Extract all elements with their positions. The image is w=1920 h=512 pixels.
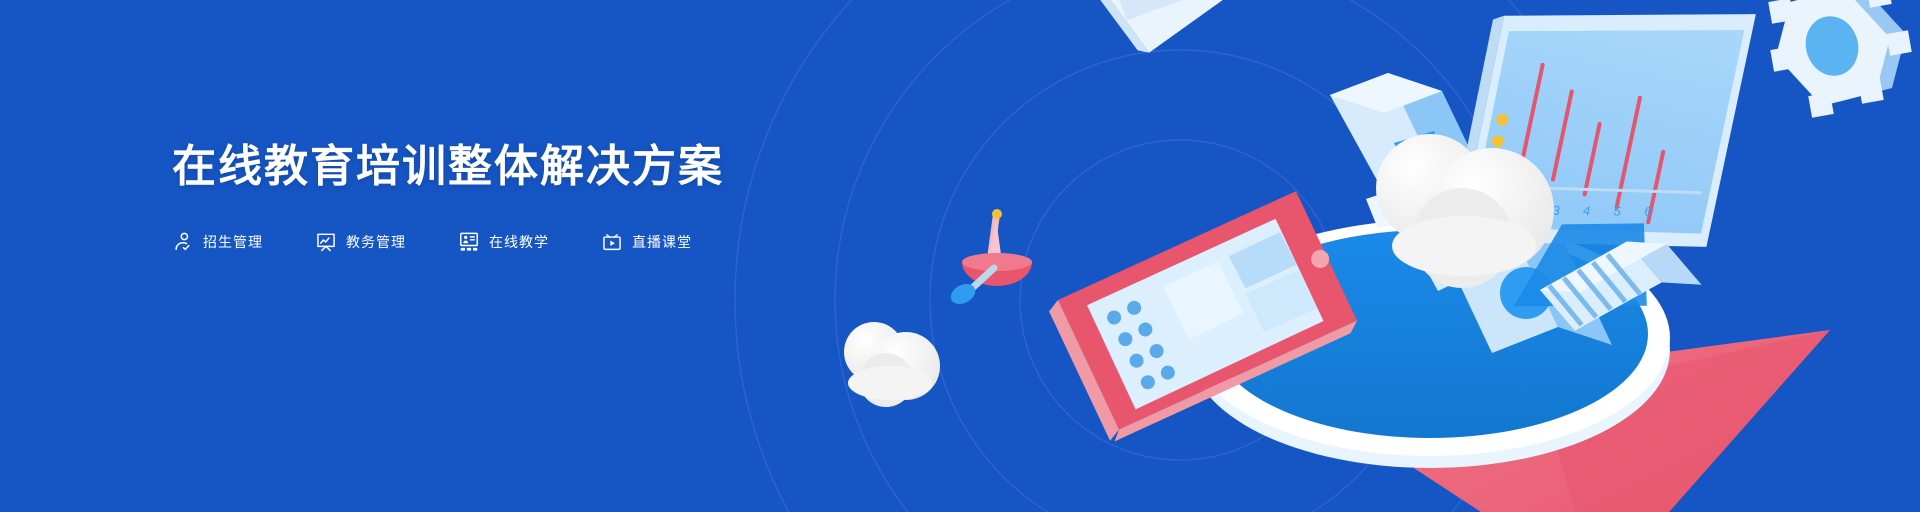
illustration-artwork: 1 2 3 4 5 6: [0, 0, 1920, 512]
feature-item-enrollment[interactable]: 招生管理: [172, 231, 263, 253]
spinning-top-pin: [947, 209, 1032, 308]
cloud-small: [844, 322, 940, 407]
feature-label: 直播课堂: [632, 235, 692, 249]
feature-item-academic-affairs[interactable]: 教务管理: [315, 231, 406, 253]
open-book: [1061, 0, 1390, 66]
live-tv-play-icon: [601, 231, 623, 253]
feature-label: 教务管理: [346, 235, 406, 249]
feature-list: 招生管理 教务管理: [172, 231, 892, 253]
presentation-class-icon: [458, 231, 480, 253]
gear-icon: [1768, 0, 1911, 118]
feature-item-live-classroom[interactable]: 直播课堂: [601, 231, 692, 253]
hero-banner: 1 2 3 4 5 6: [0, 0, 1920, 512]
banner-copy: 在线教育培训整体解决方案 招生管理: [172, 142, 892, 253]
chart-board-icon: [315, 231, 337, 253]
user-check-icon: [172, 231, 194, 253]
feature-item-online-teaching[interactable]: 在线教学: [458, 231, 549, 253]
feature-label: 招生管理: [203, 235, 263, 249]
feature-label: 在线教学: [489, 235, 549, 249]
page-title: 在线教育培训整体解决方案: [172, 142, 892, 193]
